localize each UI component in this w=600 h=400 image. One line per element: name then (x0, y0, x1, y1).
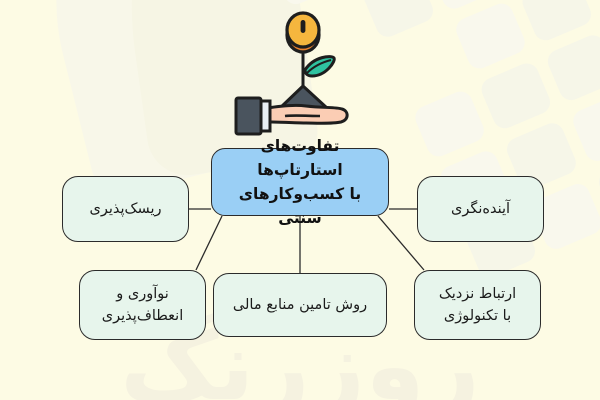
infographic-canvas: روزرنگ (0, 0, 600, 400)
branch-node-label-innovation: نوآوری و انعطاف‌پذیری (102, 283, 183, 328)
branch-node-label-risk: ریسک‌پذیری (90, 198, 162, 220)
branch-node-foresight[interactable]: آینده‌نگری (417, 176, 544, 242)
connector-center-to-innovation (196, 216, 222, 270)
branch-node-risk-taking[interactable]: ریسک‌پذیری (62, 176, 189, 242)
shirt-sleeve (236, 98, 261, 134)
open-hand (268, 105, 347, 123)
branch-node-label-tech: ارتباط نزدیک با تکنولوژی (439, 283, 516, 328)
center-node-startup-differences[interactable]: تفاوت‌های استارتاپ‌ها با کسب‌وکارهای سنت… (211, 148, 389, 216)
leaf-icon (305, 57, 334, 76)
branch-node-financing-method[interactable]: روش تامین منابع مالی (213, 273, 387, 337)
branch-node-label-funding: روش تامین منابع مالی (233, 294, 367, 316)
center-node-label: تفاوت‌های استارتاپ‌ها با کسب‌وکارهای سنت… (220, 134, 380, 230)
branch-node-innovation-flexibility[interactable]: نوآوری و انعطاف‌پذیری (79, 270, 206, 340)
branch-node-label-foresight: آینده‌نگری (451, 198, 510, 220)
hand-holding-plant-illustration (228, 8, 378, 148)
branch-node-technology-link[interactable]: ارتباط نزدیک با تکنولوژی (414, 270, 541, 340)
coin-icon (287, 13, 319, 52)
